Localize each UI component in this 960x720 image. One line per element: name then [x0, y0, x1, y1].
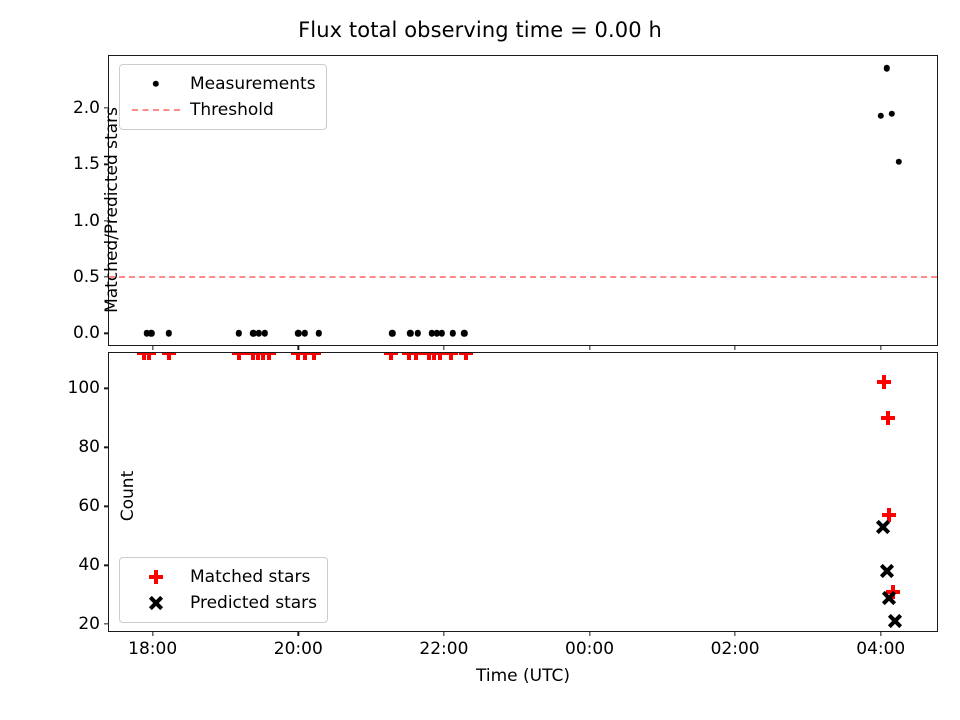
- data-point-dot: [315, 330, 321, 336]
- ratio-panel-y-tick-mark: [104, 276, 109, 277]
- legend-label-threshold: Threshold: [184, 100, 274, 120]
- data-point-dot: [165, 330, 171, 336]
- data-point-dot: [414, 330, 420, 336]
- x-tick-label: 00:00: [565, 639, 614, 659]
- legend-item-threshold[interactable]: Threshold: [128, 97, 316, 123]
- count-panel-y-tick-mark: [104, 565, 109, 566]
- data-point-dot: [148, 330, 154, 336]
- data-point-dot: [439, 330, 445, 336]
- ratio-panel-x-tick-mark: [589, 345, 590, 350]
- ratio-panel-x-tick-mark: [734, 345, 735, 350]
- chart-title: Flux total observing time = 0.00 h: [0, 18, 960, 42]
- data-point-dot: [262, 330, 268, 336]
- data-point-dot: [302, 330, 308, 336]
- legend-item-matched-stars[interactable]: Matched stars: [128, 564, 317, 590]
- ratio-panel-x-tick-mark: [443, 345, 444, 350]
- ratio-panel: Matched/Predicted stars 0.00.51.01.52.0 …: [108, 55, 938, 346]
- ratio-panel-y-tick-mark: [104, 220, 109, 221]
- ratio-panel-legend[interactable]: Measurements Threshold: [119, 64, 327, 130]
- count-panel-y-tick-label: 100: [68, 378, 109, 398]
- x-tick-label: 18:00: [128, 639, 177, 659]
- measurements-marker-icon: [128, 73, 184, 95]
- count-panel-x-tick-mark: [152, 631, 153, 636]
- ratio-panel-x-tick-mark: [152, 345, 153, 350]
- count-panel-legend[interactable]: Matched stars Predicted stars: [119, 557, 328, 623]
- ratio-panel-x-tick-mark: [880, 345, 881, 350]
- threshold-line-icon: [128, 99, 184, 121]
- x-tick-label: 22:00: [419, 639, 468, 659]
- data-point-dot: [235, 330, 241, 336]
- predicted-stars-marker-icon: [128, 592, 184, 614]
- count-panel-x-tick-mark: [589, 631, 590, 636]
- ratio-panel-y-tick-mark: [104, 164, 109, 165]
- count-panel-y-tick-mark: [104, 624, 109, 625]
- legend-item-predicted-stars[interactable]: Predicted stars: [128, 590, 317, 616]
- data-point-dot: [449, 330, 455, 336]
- count-panel-x-tick-mark: [298, 631, 299, 636]
- count-panel: Count 20406080100 18:0020:0022:0000:0002…: [108, 352, 938, 632]
- x-tick-label: 04:00: [856, 639, 905, 659]
- count-panel-x-tick-mark: [734, 631, 735, 636]
- ratio-panel-y-tick-mark: [104, 333, 109, 334]
- data-point-dot: [888, 110, 894, 116]
- legend-label-measurements: Measurements: [184, 74, 316, 94]
- data-point-dot: [878, 113, 884, 119]
- data-point-dot: [407, 330, 413, 336]
- count-panel-x-tick-mark: [880, 631, 881, 636]
- count-panel-y-tick-mark: [104, 447, 109, 448]
- legend-label-predicted-stars: Predicted stars: [184, 593, 317, 613]
- data-point-dot: [896, 159, 902, 165]
- x-tick-label: 02:00: [711, 639, 760, 659]
- legend-label-matched-stars: Matched stars: [184, 567, 310, 587]
- ratio-panel-y-tick-mark: [104, 107, 109, 108]
- data-point-dot: [461, 330, 467, 336]
- figure-canvas: Flux total observing time = 0.00 h Match…: [0, 0, 960, 720]
- threshold-line: [109, 276, 937, 278]
- count-panel-x-tick-mark: [443, 631, 444, 636]
- count-panel-y-tick-mark: [104, 506, 109, 507]
- ratio-panel-x-tick-mark: [298, 345, 299, 350]
- count-panel-y-tick-mark: [104, 388, 109, 389]
- x-axis-label: Time (UTC): [109, 666, 937, 686]
- matched-stars-marker-icon: [128, 566, 184, 588]
- legend-item-measurements[interactable]: Measurements: [128, 71, 316, 97]
- data-point-dot: [295, 330, 301, 336]
- x-tick-label: 20:00: [274, 639, 323, 659]
- data-point-dot: [883, 65, 889, 71]
- data-point-dot: [389, 330, 395, 336]
